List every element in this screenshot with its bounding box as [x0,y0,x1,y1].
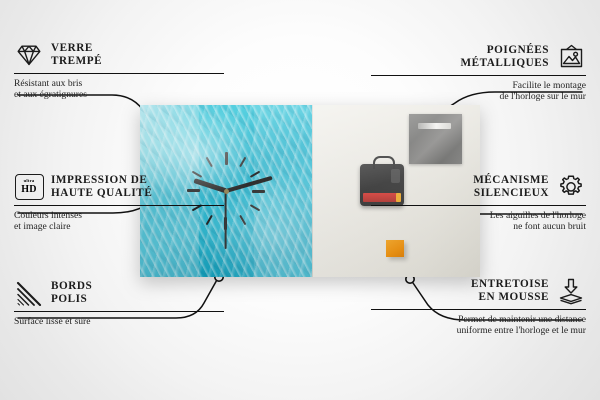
feature-verre-trempe: VERRE TREMPÉ Résistant aux bris et aux é… [14,40,224,101]
polished-edge-icon [14,278,44,308]
feature-mecanisme-silencieux: MÉCANISME SILENCIEUX Les aiguilles de l'… [371,172,586,233]
feature-title: IMPRESSION DE HAUTE QUALITÉ [51,174,152,201]
diamond-icon [14,40,44,70]
feature-divider [14,205,224,206]
feature-subtitle: Facilite le montage de l'horloge sur le … [371,80,586,103]
feature-divider [14,311,224,312]
metal-hanger-plate [409,114,462,164]
hanger-loop [373,156,395,169]
feature-divider [371,309,586,310]
feature-entretoise-en-mousse: ENTRETOISE EN MOUSSE Permet de maintenir… [371,276,586,337]
arrow-onto-layers-icon [556,276,586,306]
ultra-hd-icon: ultra HD [14,172,44,202]
feature-subtitle: Surface lisse et sûre [14,316,224,328]
feature-subtitle: Permet de maintenir une distance uniform… [371,314,586,337]
feature-subtitle: Résistant aux bris et aux égratignures [14,78,224,101]
foam-spacer [386,240,404,257]
feature-title: VERRE TREMPÉ [51,42,102,69]
feature-title: POIGNÉES MÉTALLIQUES [460,44,549,71]
clock-second-hand [225,191,227,249]
hd-label: HD [21,185,37,195]
feature-header: MÉCANISME SILENCIEUX [371,172,586,202]
feature-divider [371,75,586,76]
feature-header: POIGNÉES MÉTALLIQUES [371,42,586,72]
feature-header: VERRE TREMPÉ [14,40,224,70]
feature-subtitle: Les aiguilles de l'horloge ne font aucun… [371,210,586,233]
feature-impression-haute-qualite: ultra HD IMPRESSION DE HAUTE QUALITÉ Cou… [14,172,224,233]
clock-center-cap [224,189,229,194]
feature-bords-polis: BORDS POLIS Surface lisse et sûre [14,278,224,327]
gear-icon [556,172,586,202]
feature-divider [371,205,586,206]
feature-header: ENTRETOISE EN MOUSSE [371,276,586,306]
feature-title: BORDS POLIS [51,280,92,307]
feature-header: BORDS POLIS [14,278,224,308]
feature-header: ultra HD IMPRESSION DE HAUTE QUALITÉ [14,172,224,202]
infographic-canvas: VERRE TREMPÉ Résistant aux bris et aux é… [0,0,600,400]
feature-title: ENTRETOISE EN MOUSSE [471,278,549,305]
feature-poignees-metalliques: POIGNÉES MÉTALLIQUES Facilite le montage… [371,42,586,103]
feature-subtitle: Couleurs intenses et image claire [14,210,224,233]
feature-title: MÉCANISME SILENCIEUX [473,174,549,201]
picture-frame-hanger-icon [556,42,586,72]
feature-divider [14,73,224,74]
hanger-slot [418,123,451,129]
clock-minute-hand [225,176,272,193]
